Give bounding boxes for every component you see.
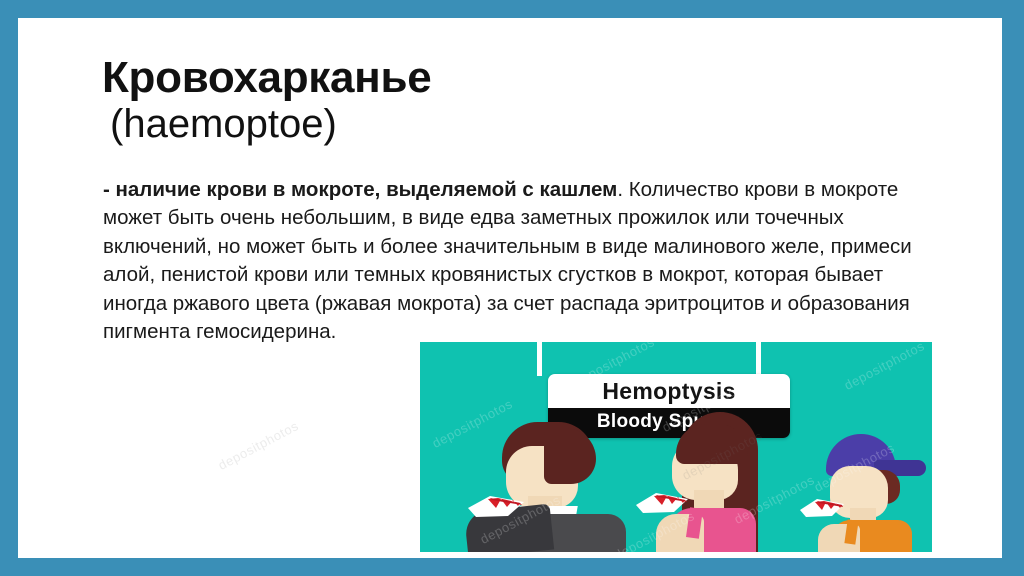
hemoptysis-illustration: Hemoptysis Bloody Sputum	[420, 342, 932, 552]
slide-canvas: Кровохарканье (haemoptoe) - наличие кров…	[18, 18, 1002, 558]
body-rest-text: . Количество крови в мокроте может быть …	[103, 178, 912, 343]
title-subtitle: (haemoptoe)	[102, 102, 802, 147]
body-paragraph: - наличие крови в мокроте, выделяемой с …	[103, 176, 941, 346]
watermark: depositphotos	[842, 342, 927, 393]
figure-child-with-cap	[800, 434, 932, 552]
body-lead-text: - наличие крови в мокроте, выделяемой с …	[103, 178, 617, 201]
bloody-tissue-icon	[468, 492, 526, 518]
slide-frame: Кровохарканье (haemoptoe) - наличие кров…	[0, 0, 1024, 576]
figure-adult-man	[466, 422, 626, 552]
figure-adult-woman	[636, 412, 796, 552]
connector-line-left	[537, 342, 542, 376]
title-main: Кровохарканье	[102, 54, 802, 102]
watermark: depositphotos	[216, 418, 301, 473]
label-title-hemoptysis: Hemoptysis	[548, 374, 790, 408]
man-hair-front	[544, 428, 596, 484]
connector-line-right	[756, 342, 761, 376]
bloody-tissue-icon	[800, 496, 846, 518]
bloody-tissue-icon	[636, 490, 690, 514]
page-title: Кровохарканье (haemoptoe)	[102, 54, 802, 146]
woman-hair-front	[676, 424, 748, 464]
